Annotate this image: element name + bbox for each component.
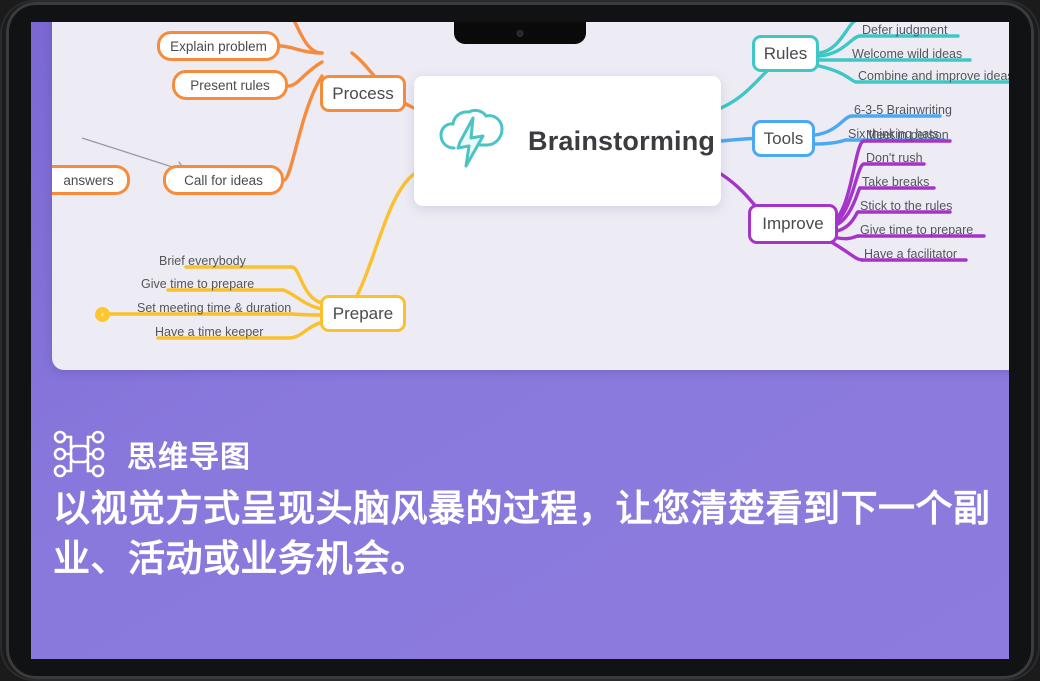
leaf-node-present-rules[interactable]: Present rules bbox=[172, 70, 288, 100]
branch-node-rules-label: Rules bbox=[764, 44, 807, 64]
leaf-node-call-for-ideas[interactable]: Call for ideas bbox=[163, 165, 284, 195]
leaf-give-time-to-prepare-improve[interactable]: Give time to prepare bbox=[860, 223, 973, 237]
leaf-have-a-facilitator[interactable]: Have a facilitator bbox=[864, 247, 957, 261]
leaf-give-time-to-prepare-prepare[interactable]: Give time to prepare bbox=[141, 277, 254, 291]
branch-node-rules[interactable]: Rules bbox=[752, 35, 819, 72]
leaf-defer-judgment[interactable]: Defer judgment bbox=[862, 23, 947, 37]
leaf-combine-and-improve-ideas[interactable]: Combine and improve ideas bbox=[858, 69, 1009, 83]
leaf-brief-everybody[interactable]: Brief everybody bbox=[159, 254, 246, 268]
leaf-meet-in-person[interactable]: Meet in person bbox=[866, 128, 949, 142]
collapse-toggle-prepare[interactable]: ‹ bbox=[95, 307, 110, 322]
branch-node-improve[interactable]: Improve bbox=[748, 204, 838, 244]
leaf-stick-to-the-rules[interactable]: Stick to the rules bbox=[860, 199, 952, 213]
branch-node-tools-label: Tools bbox=[764, 129, 804, 149]
center-node[interactable]: Brainstorming bbox=[414, 76, 721, 206]
leaf-node-answers-label: answers bbox=[63, 173, 113, 188]
device-notch bbox=[454, 22, 586, 44]
center-node-label: Brainstorming bbox=[528, 126, 715, 157]
device-screen: Brainstorming Process Prepare Rules Tool… bbox=[31, 22, 1009, 659]
leaf-welcome-wild-ideas[interactable]: Welcome wild ideas bbox=[852, 47, 962, 61]
promo-heading: 思维导图 bbox=[127, 432, 251, 476]
leaf-have-a-time-keeper[interactable]: Have a time keeper bbox=[155, 325, 263, 339]
branch-node-prepare[interactable]: Prepare bbox=[320, 295, 406, 332]
branch-node-process-label: Process bbox=[332, 84, 393, 104]
branch-node-improve-label: Improve bbox=[762, 214, 823, 234]
leaf-635-brainwriting[interactable]: 6-3-5 Brainwriting bbox=[854, 103, 952, 117]
cloud-lightning-icon bbox=[438, 108, 510, 174]
leaf-set-meeting-time[interactable]: Set meeting time & duration bbox=[137, 301, 291, 315]
leaf-node-explain-problem-label: Explain problem bbox=[170, 39, 267, 54]
screenshot-root: Brainstorming Process Prepare Rules Tool… bbox=[0, 0, 1040, 681]
branch-node-prepare-label: Prepare bbox=[333, 304, 393, 324]
promo-body-text: 以视觉方式呈现头脑风暴的过程，让您清楚看到下一个副业、活动或业务机会。 bbox=[53, 484, 1009, 583]
branch-node-process[interactable]: Process bbox=[320, 75, 406, 112]
promo-section: 思维导图 以视觉方式呈现头脑风暴的过程，让您清楚看到下一个副业、活动或业务机会。 bbox=[31, 394, 1009, 659]
leaf-node-explain-problem[interactable]: Explain problem bbox=[157, 31, 280, 61]
leaf-take-breaks[interactable]: Take breaks bbox=[862, 175, 929, 189]
leaf-node-present-rules-label: Present rules bbox=[190, 78, 270, 93]
branch-node-tools[interactable]: Tools bbox=[752, 120, 815, 157]
leaf-node-call-for-ideas-label: Call for ideas bbox=[184, 173, 263, 188]
mindmap-nodes-icon bbox=[53, 430, 105, 478]
leaf-node-answers[interactable]: answers bbox=[52, 165, 130, 195]
camera-dot-icon bbox=[518, 31, 523, 36]
mindmap-card: Brainstorming Process Prepare Rules Tool… bbox=[52, 22, 1009, 370]
promo-heading-row: 思维导图 bbox=[53, 430, 251, 478]
leaf-dont-rush[interactable]: Don't rush bbox=[866, 151, 923, 165]
